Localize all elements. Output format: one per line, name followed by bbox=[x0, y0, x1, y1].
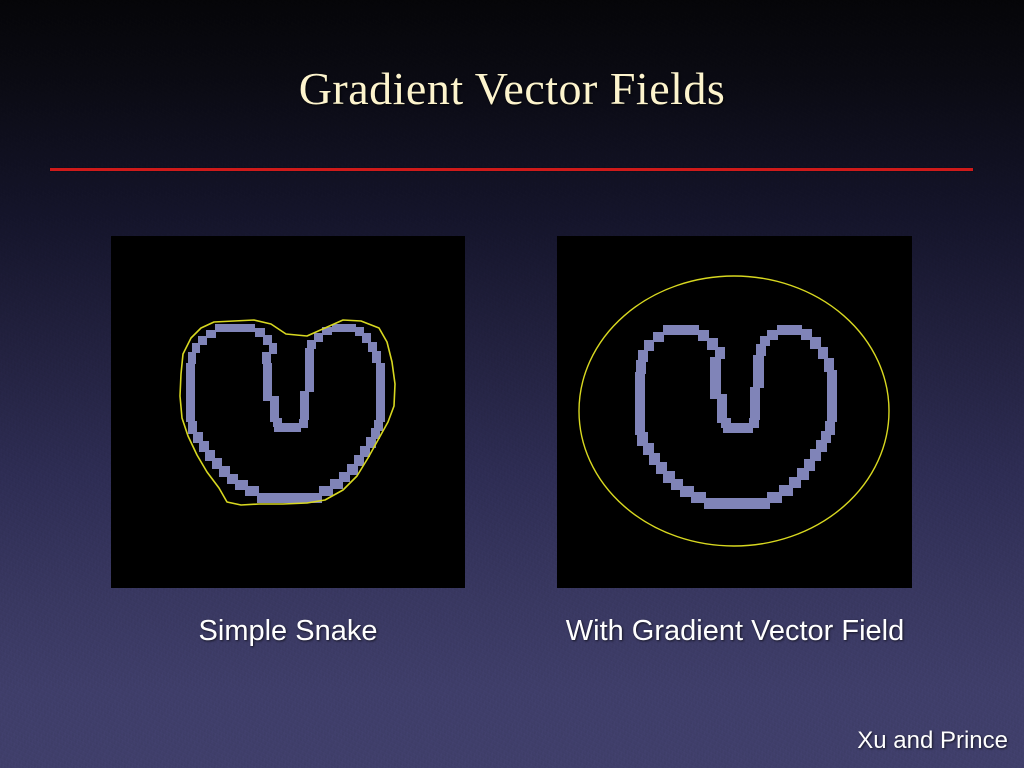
figure-simple-snake bbox=[111, 236, 465, 588]
gvf-canvas bbox=[557, 236, 912, 588]
caption-simple-snake: Simple Snake bbox=[111, 612, 465, 650]
page-title: Gradient Vector Fields bbox=[0, 60, 1024, 118]
simple-snake-canvas bbox=[111, 236, 465, 588]
slide: Gradient Vector Fields bbox=[0, 0, 1024, 768]
figure-background bbox=[111, 236, 465, 588]
figure-background bbox=[557, 236, 912, 588]
figure-with-gradient-vector-field bbox=[557, 236, 912, 588]
caption-with-gvf: With Gradient Vector Field bbox=[510, 612, 960, 650]
attribution-credit: Xu and Prince bbox=[857, 726, 1008, 756]
title-divider-rule bbox=[50, 168, 973, 171]
